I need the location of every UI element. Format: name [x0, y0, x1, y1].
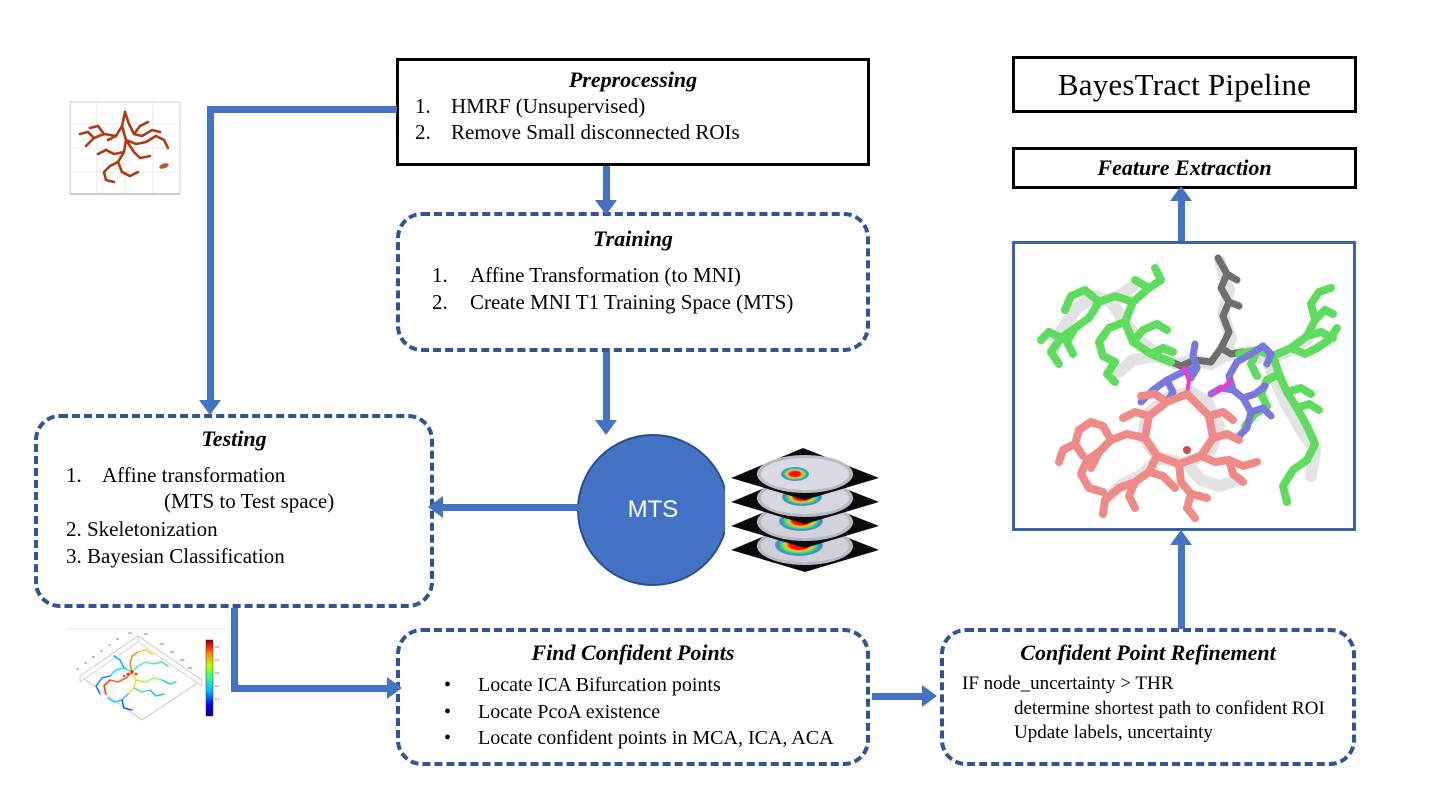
arrow-testing-to-find-v	[231, 608, 238, 692]
list-number: 1.	[66, 462, 102, 489]
list-item: 3. Bayesian Classification	[66, 543, 430, 570]
list-text: Locate PcoA existence	[478, 701, 660, 723]
feature-extraction-label: Feature Extraction	[1097, 155, 1271, 181]
find-confident-points-box: Find Confident Points •Locate ICA Bifurc…	[396, 628, 870, 766]
svg-text:40: 40	[84, 661, 87, 665]
arrow-panel-to-feature-shaft	[1178, 197, 1185, 241]
diagram-canvas: BayesTract Pipeline Feature Extraction P…	[0, 0, 1440, 810]
training-list: 1.Affine Transformation (to MNI) 2.Creat…	[400, 262, 866, 317]
list-text: Affine Transformation (to MNI)	[470, 263, 741, 287]
arrow-preprocessing-to-training-head	[595, 200, 617, 215]
svg-text:70: 70	[108, 643, 111, 647]
list-number: 2.	[66, 517, 82, 541]
brain-slice-stack-svg	[725, 438, 885, 578]
svg-text:50: 50	[92, 655, 95, 659]
arrow-refinement-to-panel-shaft	[1178, 543, 1185, 629]
find-confident-points-title: Find Confident Points	[400, 640, 866, 666]
pipeline-title-card: BayesTract Pipeline	[1012, 56, 1357, 113]
page-title: BayesTract Pipeline	[1058, 67, 1311, 103]
arrow-preprocessing-to-testing-h	[207, 106, 397, 113]
uncertainty-3d-scatter-thumbnail: 100200 300400 500600 8070 6050 4030	[66, 628, 226, 752]
list-text: Locate ICA Bifurcation points	[478, 674, 721, 696]
list-item: •Locate ICA Bifurcation points	[444, 672, 866, 699]
confident-point-refinement-box: Confident Point Refinement IF node_uncer…	[940, 628, 1356, 766]
svg-text:0.4: 0.4	[215, 658, 219, 662]
arrow-training-to-mts-head	[595, 420, 617, 435]
arrow-preprocessing-to-training-shaft	[603, 166, 610, 204]
list-number: 1.	[432, 262, 470, 289]
list-item: 1.HMRF (Unsupervised)	[415, 94, 867, 120]
feature-extraction-box: Feature Extraction	[1012, 147, 1357, 189]
svg-text:80: 80	[116, 637, 119, 641]
list-text: Create MNI T1 Training Space (MTS)	[470, 290, 793, 314]
list-subtext: (MTS to Test space)	[66, 488, 430, 515]
svg-text:30: 30	[76, 667, 79, 671]
list-item: •Locate PcoA existence	[444, 699, 866, 726]
arrow-mts-to-testing-head	[428, 496, 443, 518]
labeled-vessel-tree-svg	[1015, 244, 1353, 528]
svg-text:0.3: 0.3	[215, 671, 219, 675]
list-text: HMRF (Unsupervised)	[451, 94, 645, 118]
svg-text:500: 500	[180, 658, 185, 662]
list-number: 1.	[415, 94, 451, 120]
uncertainty-3d-scatter-svg: 100200 300400 500600 8070 6050 4030	[66, 628, 226, 752]
list-item: 2.Remove Small disconnected ROIs	[415, 120, 867, 146]
testing-title: Testing	[38, 426, 430, 452]
list-text: Remove Small disconnected ROIs	[451, 120, 740, 144]
svg-text:400: 400	[170, 650, 175, 654]
find-confident-points-list: •Locate ICA Bifurcation points •Locate P…	[400, 672, 866, 752]
bullet-icon: •	[444, 699, 478, 726]
testing-list: 1.Affine transformation (MTS to Test spa…	[38, 462, 430, 570]
input-vessel-tree-svg	[64, 96, 192, 206]
list-item: 2. Skeletonization	[66, 516, 430, 543]
testing-box: Testing 1.Affine transformation (MTS to …	[34, 414, 434, 608]
list-text: Affine transformation	[102, 463, 285, 487]
svg-text:100: 100	[128, 631, 133, 635]
arrow-preprocessing-to-testing-v	[207, 106, 214, 406]
preprocessing-title: Preprocessing	[399, 67, 867, 93]
svg-text:0.1: 0.1	[215, 697, 219, 701]
training-box: Training 1.Affine Transformation (to MNI…	[396, 212, 870, 352]
svg-text:600: 600	[188, 666, 193, 670]
list-text: Locate confident points in MCA, ICA, ACA	[478, 727, 834, 749]
training-title: Training	[400, 226, 866, 252]
list-text: Bayesian Classification	[87, 544, 285, 568]
arrow-training-to-mts-shaft	[603, 352, 610, 424]
list-item: •Locate confident points in MCA, ICA, AC…	[444, 725, 866, 752]
list-number: 2.	[432, 289, 470, 316]
arrow-testing-to-find-head	[387, 677, 402, 699]
bullet-icon: •	[444, 672, 478, 699]
arrow-preprocessing-to-testing-head	[199, 400, 221, 415]
list-number: 3.	[66, 544, 82, 568]
brain-slice-stack-thumbnail	[725, 438, 885, 578]
mts-node-label: MTS	[628, 496, 679, 524]
list-item: 2.Create MNI T1 Training Space (MTS)	[432, 289, 866, 316]
svg-text:300: 300	[160, 642, 165, 646]
arrow-refinement-to-panel-head	[1170, 530, 1192, 545]
svg-text:60: 60	[100, 649, 103, 653]
list-item: 1.Affine transformation (MTS to Test spa…	[66, 462, 430, 516]
confident-point-refinement-lines: IF node_uncertainty > THR determine shor…	[944, 672, 1352, 746]
svg-text:0.2: 0.2	[215, 684, 219, 688]
code-line: IF node_uncertainty > THR	[962, 672, 1352, 697]
svg-text:200: 200	[144, 632, 149, 636]
svg-text:0.5: 0.5	[215, 645, 219, 649]
code-line: determine shortest path to confident ROI	[962, 697, 1352, 722]
list-text: Skeletonization	[87, 517, 218, 541]
bullet-icon: •	[444, 725, 478, 752]
arrow-find-to-refinement-shaft	[872, 693, 926, 700]
list-item: 1.Affine Transformation (to MNI)	[432, 262, 866, 289]
arrow-panel-to-feature-head	[1170, 186, 1192, 201]
input-vessel-tree-thumbnail	[64, 96, 192, 206]
arrow-find-to-refinement-head	[922, 685, 937, 707]
arrow-mts-to-testing-shaft	[443, 504, 579, 511]
confident-point-refinement-title: Confident Point Refinement	[944, 640, 1352, 666]
code-line: Update labels, uncertainty	[962, 721, 1352, 746]
preprocessing-list: 1.HMRF (Unsupervised) 2.Remove Small dis…	[399, 94, 867, 145]
list-number: 2.	[415, 120, 451, 146]
arrow-testing-to-find-h	[231, 685, 391, 692]
mts-node: MTS	[577, 434, 729, 586]
labeled-vessel-tree-panel	[1012, 241, 1356, 531]
preprocessing-box: Preprocessing 1.HMRF (Unsupervised) 2.Re…	[396, 58, 870, 166]
